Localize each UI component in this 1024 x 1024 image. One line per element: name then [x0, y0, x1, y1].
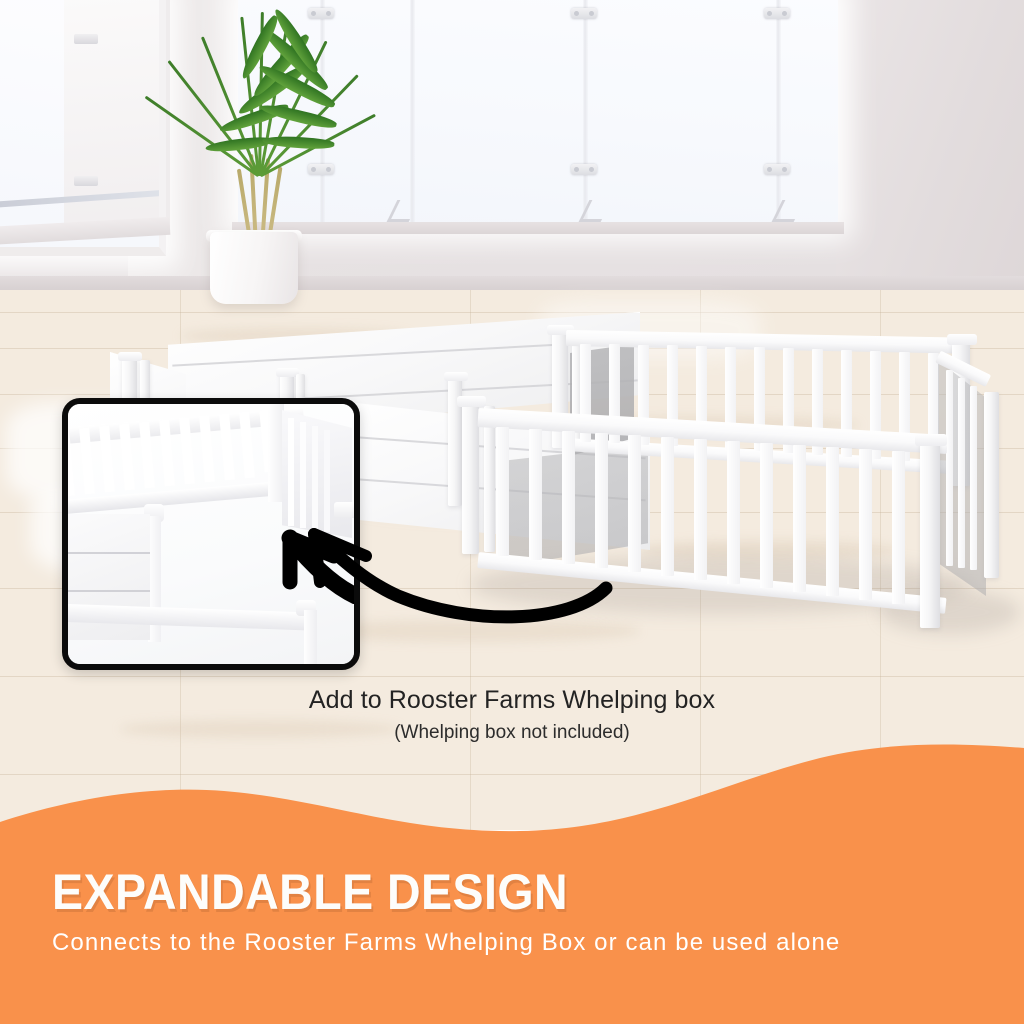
- banner-headline: EXPANDABLE DESIGN: [52, 863, 568, 921]
- playpen-slat: [970, 386, 977, 570]
- orange-banner: EXPANDABLE DESIGN Connects to the Rooste…: [0, 735, 1024, 1024]
- marketing-image: Add to Rooster Farms Whelping box (Whelp…: [0, 0, 1024, 1024]
- playpen-right-end-post: [984, 392, 999, 578]
- playpen-slat: [727, 441, 740, 584]
- playpen-slat: [826, 447, 839, 596]
- playpen-slat: [892, 451, 905, 604]
- playpen-slat: [958, 378, 965, 568]
- playpen-slat: [946, 370, 953, 566]
- playpen-slat: [661, 437, 674, 576]
- playpen-slat: [694, 439, 707, 580]
- playpen-slat: [859, 449, 872, 600]
- banner-subline: Connects to the Rooster Farms Whelping B…: [52, 929, 840, 957]
- caption-main: Add to Rooster Farms Whelping box: [0, 686, 1024, 715]
- playpen-front-corner-post: [920, 440, 940, 628]
- playpen-slat: [793, 445, 806, 592]
- inset-corner-post: [268, 404, 284, 502]
- playpen-slat: [760, 443, 773, 588]
- curved-pointer-arrow: [270, 500, 650, 630]
